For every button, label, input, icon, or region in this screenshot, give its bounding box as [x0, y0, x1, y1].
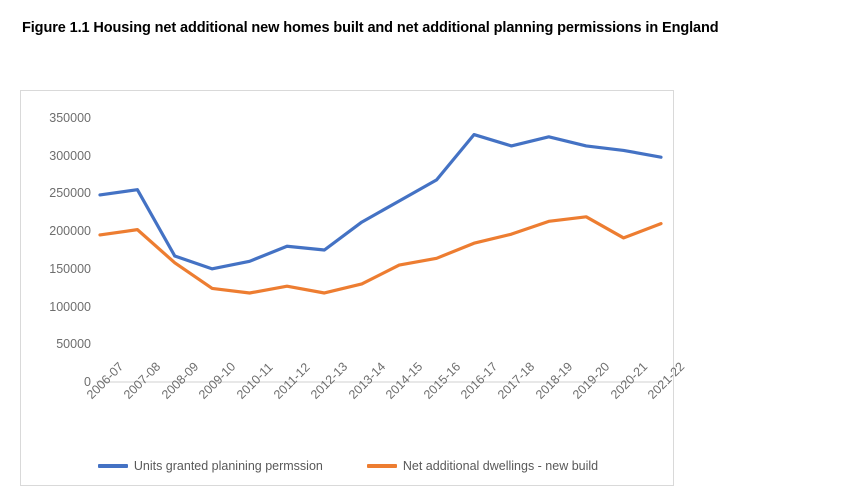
x-axis-tick-label: 2011-12 — [271, 360, 313, 402]
x-axis-tick-label: 2014-15 — [383, 360, 425, 402]
legend-item-label: Units granted planining permssion — [134, 459, 323, 473]
legend-item-label: Net additional dwellings - new build — [403, 459, 598, 473]
legend-color-swatch — [367, 464, 397, 468]
chart-legend: Units granted planining permssionNet add… — [21, 459, 675, 473]
x-axis-tick-label: 2006-07 — [84, 360, 126, 402]
x-axis-tick-label: 2017-18 — [495, 360, 537, 402]
x-axis-tick-label: 2019-20 — [570, 360, 612, 402]
x-axis-tick-label: 2020-21 — [608, 360, 650, 402]
x-axis: 2006-072007-082008-092009-102010-112011-… — [21, 91, 675, 487]
x-axis-tick-label: 2015-16 — [421, 360, 463, 402]
x-axis-tick-label: 2013-14 — [346, 360, 388, 402]
plot-area: 3500003000002500002000001500001000005000… — [21, 91, 675, 487]
x-axis-tick-label: 2012-13 — [308, 360, 350, 402]
x-axis-tick-label: 2018-19 — [533, 360, 575, 402]
figure-title: Figure 1.1 Housing net additional new ho… — [22, 18, 822, 39]
x-axis-tick-label: 2009-10 — [196, 360, 238, 402]
chart-container: 3500003000002500002000001500001000005000… — [20, 90, 674, 486]
x-axis-tick-label: 2007-08 — [121, 360, 163, 402]
x-axis-tick-label: 2021-22 — [645, 360, 687, 402]
legend-color-swatch — [98, 464, 128, 468]
legend-item[interactable]: Net additional dwellings - new build — [367, 459, 598, 473]
legend-item[interactable]: Units granted planining permssion — [98, 459, 323, 473]
x-axis-tick-label: 2010-11 — [234, 360, 276, 402]
x-axis-tick-label: 2008-09 — [159, 360, 201, 402]
x-axis-tick-label: 2016-17 — [458, 360, 500, 402]
